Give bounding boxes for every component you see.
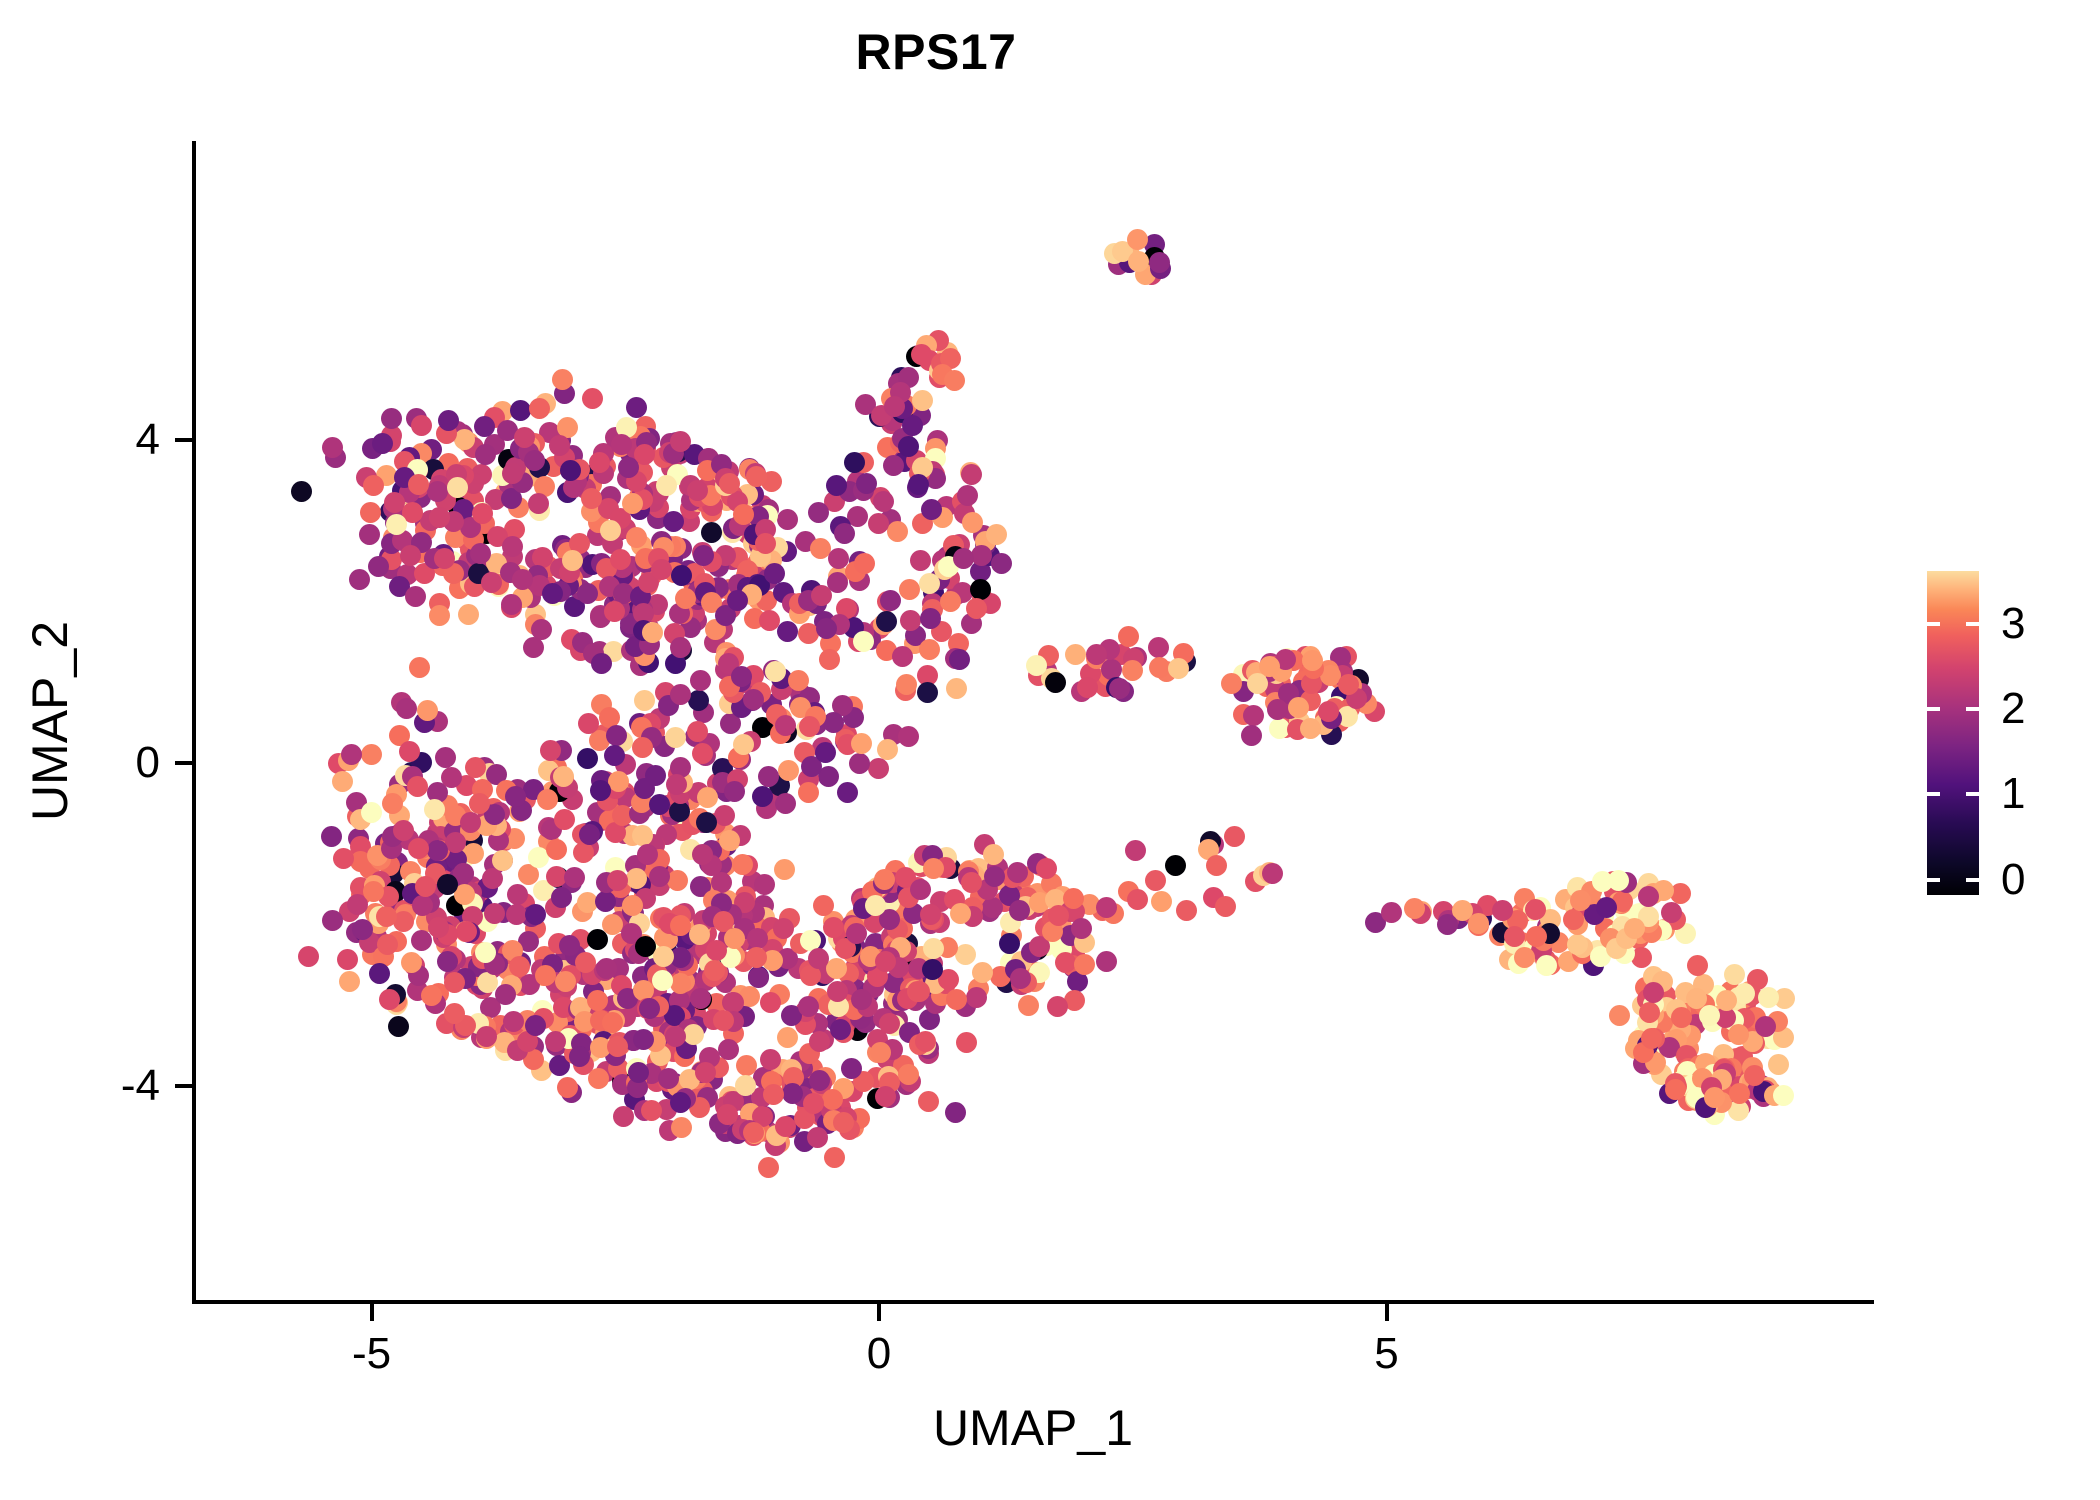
scatter-point	[435, 747, 456, 768]
scatter-point	[868, 513, 889, 534]
scatter-point	[1514, 947, 1535, 968]
scatter-point	[458, 604, 479, 625]
scatter-point	[743, 689, 764, 710]
scatter-point	[746, 947, 767, 968]
scatter-point	[875, 1086, 896, 1107]
scatter-point	[429, 605, 450, 626]
scatter-point	[1243, 705, 1264, 726]
legend-tick-mark	[1927, 622, 1940, 626]
scatter-point	[1567, 934, 1588, 955]
scatter-point	[1241, 725, 1262, 746]
scatter-point	[411, 415, 432, 436]
scatter-point	[706, 940, 727, 961]
scatter-point	[608, 771, 629, 792]
scatter-point	[501, 594, 522, 615]
scatter-point	[579, 824, 600, 845]
scatter-point	[1699, 1005, 1720, 1026]
scatter-point	[610, 549, 631, 570]
scatter-point	[1404, 898, 1425, 919]
scatter-point	[653, 946, 674, 967]
scatter-point	[441, 767, 462, 788]
scatter-point	[760, 1049, 781, 1070]
scatter-point	[809, 1070, 830, 1091]
scatter-point	[1010, 968, 1031, 989]
scatter-point	[811, 585, 832, 606]
scatter-point	[1168, 658, 1189, 679]
scatter-point	[1122, 660, 1143, 681]
scatter-point	[1687, 955, 1708, 976]
scatter-point	[578, 713, 599, 734]
scatter-point	[696, 812, 717, 833]
scatter-point	[604, 601, 625, 622]
scatter-point	[424, 799, 445, 820]
scatter-point	[560, 460, 581, 481]
scatter-point	[291, 481, 312, 502]
scatter-point	[912, 390, 933, 411]
scatter-point	[1118, 626, 1139, 647]
scatter-point	[754, 874, 775, 895]
scatter-point	[747, 928, 768, 949]
scatter-point	[663, 511, 684, 532]
scatter-point	[1065, 644, 1086, 665]
scatter-point	[337, 949, 358, 970]
scatter-point	[577, 583, 598, 604]
scatter-point	[349, 569, 370, 590]
scatter-point	[445, 832, 466, 853]
scatter-point	[670, 1092, 691, 1113]
scatter-point	[920, 608, 941, 629]
scatter-point	[1641, 1028, 1662, 1049]
scatter-point	[940, 591, 961, 612]
scatter-point	[819, 649, 840, 670]
scatter-point	[823, 917, 844, 938]
scatter-point	[961, 872, 982, 893]
scatter-point	[946, 678, 967, 699]
scatter-point	[670, 637, 691, 658]
scatter-point	[604, 745, 625, 766]
scatter-point	[808, 502, 829, 523]
scatter-point	[361, 802, 382, 823]
scatter-point	[701, 522, 722, 543]
legend-tick-label: 3	[2001, 596, 2025, 652]
scatter-point	[732, 854, 753, 875]
scatter-point	[555, 971, 576, 992]
scatter-point	[564, 867, 585, 888]
scatter-point	[870, 1042, 891, 1063]
scatter-point	[984, 866, 1005, 887]
scatter-point	[1504, 926, 1525, 947]
scatter-point	[735, 1075, 756, 1096]
scatter-point	[1734, 983, 1755, 1004]
scatter-point	[589, 452, 610, 473]
scatter-point	[484, 903, 505, 924]
scatter-point	[1758, 987, 1779, 1008]
y-tick-mark	[175, 761, 192, 765]
legend-tick-label: 0	[2001, 852, 2025, 908]
scatter-point	[1639, 1002, 1660, 1023]
scatter-point	[438, 410, 459, 431]
scatter-point	[437, 874, 458, 895]
scatter-point	[690, 988, 711, 1009]
scatter-point	[915, 1031, 936, 1052]
scatter-point	[718, 1039, 739, 1060]
scatter-point	[775, 793, 796, 814]
scatter-point	[1728, 1024, 1749, 1045]
scatter-point	[492, 850, 513, 871]
scatter-point	[917, 682, 938, 703]
scatter-point	[697, 787, 718, 808]
scatter-point	[675, 588, 696, 609]
legend-tick-mark	[1927, 792, 1940, 796]
scatter-point	[1570, 890, 1591, 911]
legend-tick-mark	[1927, 878, 1940, 882]
scatter-point	[665, 727, 686, 748]
scatter-point	[376, 906, 397, 927]
scatter-point	[1145, 870, 1166, 891]
scatter-point	[669, 801, 690, 822]
scatter-point	[554, 809, 575, 830]
scatter-point	[923, 858, 944, 879]
scatter-point	[587, 929, 608, 950]
scatter-point	[887, 521, 908, 542]
scatter-point	[1096, 951, 1117, 972]
scatter-point	[553, 766, 574, 787]
scatter-point	[524, 450, 545, 471]
scatter-point	[883, 455, 904, 476]
scatter-point	[833, 1112, 854, 1133]
scatter-point	[851, 733, 872, 754]
scatter-point	[1128, 251, 1149, 272]
scatter-point	[874, 869, 895, 890]
scatter-point	[502, 536, 523, 557]
scatter-point	[1215, 896, 1236, 917]
x-axis-line	[192, 1300, 1874, 1304]
scatter-point	[540, 740, 561, 761]
scatter-point	[763, 1084, 784, 1105]
legend-tick-label: 2	[2001, 681, 2025, 737]
scatter-point	[788, 670, 809, 691]
scatter-point	[966, 987, 987, 1008]
scatter-point	[1071, 918, 1092, 939]
scatter-point	[577, 748, 598, 769]
scatter-point	[341, 744, 362, 765]
y-axis-title-wrapper: UMAP_2	[20, 321, 80, 1121]
scatter-point	[775, 1116, 796, 1137]
scatter-point	[755, 533, 776, 554]
scatter-point	[667, 870, 688, 891]
scatter-point	[399, 741, 420, 762]
scatter-point	[1724, 964, 1745, 985]
scatter-point	[665, 1026, 686, 1047]
scatter-point	[528, 493, 549, 514]
y-axis-title: UMAP_2	[20, 321, 80, 1121]
scatter-point	[405, 586, 426, 607]
scatter-point	[777, 509, 798, 530]
scatter-point	[1109, 678, 1130, 699]
scatter-point	[876, 611, 897, 632]
scatter-point	[409, 657, 430, 678]
scatter-point	[361, 744, 382, 765]
scatter-point	[690, 670, 711, 691]
scatter-point	[944, 370, 965, 391]
scatter-point	[899, 579, 920, 600]
scatter-point	[999, 933, 1020, 954]
scatter-point	[774, 859, 795, 880]
scatter-point	[415, 876, 436, 897]
scatter-point	[562, 550, 583, 571]
scatter-point	[529, 398, 550, 419]
scatter-point	[575, 952, 596, 973]
scatter-point	[613, 1106, 634, 1127]
scatter-point	[683, 1024, 704, 1045]
scatter-point	[884, 396, 905, 417]
scatter-point	[649, 794, 670, 815]
scatter-point	[777, 1027, 798, 1048]
scatter-point	[1055, 952, 1076, 973]
scatter-point	[1127, 889, 1148, 910]
scatter-point	[773, 918, 794, 939]
x-tick-mark	[370, 1304, 374, 1321]
scatter-point	[849, 753, 870, 774]
scatter-point	[918, 1091, 939, 1112]
scatter-point	[1381, 902, 1402, 923]
scatter-point	[645, 765, 666, 786]
scatter-point	[807, 1127, 828, 1148]
scatter-point	[652, 970, 673, 991]
scatter-point	[396, 698, 417, 719]
scatter-point	[1018, 995, 1039, 1016]
legend-tick-mark	[1927, 707, 1940, 711]
scatter-point	[1671, 1007, 1692, 1028]
x-tick-label: 5	[1287, 1326, 1487, 1382]
scatter-point	[298, 946, 319, 967]
scatter-point	[830, 1019, 851, 1040]
scatter-point	[1047, 996, 1068, 1017]
scatter-point	[919, 573, 940, 594]
scatter-point	[626, 868, 647, 889]
scatter-point	[505, 786, 526, 807]
scatter-point	[898, 726, 919, 747]
scatter-point	[475, 444, 496, 465]
scatter-point	[687, 721, 708, 742]
scatter-point	[658, 1068, 679, 1089]
scatter-point	[868, 758, 889, 779]
scatter-point	[731, 666, 752, 687]
scatter-point	[724, 781, 745, 802]
scatter-point	[760, 992, 781, 1013]
scatter-point	[1096, 897, 1117, 918]
scatter-point	[1338, 674, 1359, 695]
scatter-layer	[194, 141, 1872, 1302]
scatter-point	[687, 480, 708, 501]
scatter-point	[692, 743, 713, 764]
scatter-point	[834, 523, 855, 544]
scatter-point	[465, 757, 486, 778]
scatter-point	[704, 960, 725, 981]
scatter-point	[595, 891, 616, 912]
scatter-point	[956, 1032, 977, 1053]
scatter-point	[537, 789, 558, 810]
y-axis-line	[192, 141, 196, 1304]
scatter-point	[412, 895, 433, 916]
legend-tick-mark	[1966, 707, 1979, 711]
scatter-point	[1744, 1065, 1765, 1086]
scatter-point	[1536, 955, 1557, 976]
scatter-point	[322, 910, 343, 931]
color-legend[interactable]	[1927, 571, 1979, 895]
scatter-point	[971, 545, 992, 566]
scatter-point	[854, 553, 875, 574]
scatter-point	[642, 622, 663, 643]
scatter-point	[896, 674, 917, 695]
x-tick-label: -5	[272, 1326, 472, 1382]
scatter-point	[1077, 677, 1098, 698]
scatter-point	[1686, 988, 1707, 1009]
scatter-point	[949, 649, 970, 670]
scatter-point	[510, 400, 531, 421]
scatter-point	[444, 972, 465, 993]
scatter-point	[360, 502, 381, 523]
legend-tick-label: 1	[2001, 766, 2025, 822]
scatter-point	[377, 934, 398, 955]
x-axis-title: UMAP_1	[194, 1398, 1872, 1458]
scatter-point	[582, 388, 603, 409]
page-title: RPS17	[0, 22, 1872, 82]
scatter-point	[898, 1064, 919, 1085]
scatter-point	[379, 989, 400, 1010]
scatter-point	[946, 989, 967, 1010]
scatter-point	[633, 1029, 654, 1050]
scatter-point	[1624, 918, 1645, 939]
scatter-point	[602, 1012, 623, 1033]
scatter-point	[898, 436, 919, 457]
legend-tick-mark	[1966, 878, 1979, 882]
scatter-point	[945, 1102, 966, 1123]
scatter-point	[1437, 914, 1458, 935]
scatter-point	[765, 661, 786, 682]
scatter-point	[552, 369, 573, 390]
scatter-point	[824, 1147, 845, 1168]
scatter-point	[1302, 650, 1323, 671]
scatter-point	[428, 917, 449, 938]
scatter-point	[921, 499, 942, 520]
scatter-point	[444, 1003, 465, 1024]
scatter-point	[400, 545, 421, 566]
scatter-point	[844, 452, 865, 473]
scatter-point	[408, 474, 429, 495]
scatter-point	[1148, 637, 1169, 658]
scatter-point	[733, 504, 754, 525]
scatter-point	[1026, 655, 1047, 676]
scatter-point	[957, 485, 978, 506]
scatter-point	[815, 742, 836, 763]
scatter-point	[1176, 900, 1197, 921]
legend-tick-mark	[1966, 622, 1979, 626]
scatter-point	[626, 527, 647, 548]
x-tick-mark	[877, 1304, 881, 1321]
scatter-point	[909, 981, 930, 1002]
legend-tick-mark	[1966, 792, 1979, 796]
scatter-point	[1704, 1087, 1725, 1108]
scatter-point	[873, 491, 894, 512]
scatter-point	[339, 971, 360, 992]
scatter-point	[1224, 826, 1245, 847]
scatter-point	[1048, 905, 1069, 926]
scatter-point	[369, 963, 390, 984]
scatter-point	[475, 942, 496, 963]
scatter-point	[953, 548, 974, 569]
scatter-point	[733, 734, 754, 755]
scatter-point	[332, 771, 353, 792]
scatter-point	[359, 524, 380, 545]
scatter-point	[417, 700, 438, 721]
scatter-point	[1165, 855, 1186, 876]
scatter-point	[607, 1036, 628, 1057]
scatter-point	[607, 870, 628, 891]
scatter-point	[671, 1117, 692, 1138]
scatter-point	[634, 690, 655, 711]
scatter-point	[778, 760, 799, 781]
scatter-point	[503, 1011, 524, 1032]
scatter-point	[632, 825, 653, 846]
scatter-point	[1729, 1083, 1750, 1104]
scatter-point	[950, 903, 971, 924]
scatter-point	[382, 793, 403, 814]
scatter-point	[363, 475, 384, 496]
scatter-point	[523, 637, 544, 658]
feature-plot-root: RPS17 -505 -404 UMAP_1 UMAP_2 0123	[0, 0, 2100, 1500]
scatter-point	[1661, 902, 1682, 923]
scatter-point	[970, 579, 991, 600]
x-tick-label: 0	[779, 1326, 979, 1382]
scatter-point	[910, 550, 931, 571]
scatter-point	[1009, 900, 1030, 921]
scatter-point	[591, 653, 612, 674]
color-legend-gradient-bar	[1927, 571, 1979, 895]
scatter-point	[919, 639, 940, 660]
scatter-point	[758, 1157, 779, 1178]
scatter-point	[656, 475, 677, 496]
scatter-point	[798, 782, 819, 803]
scatter-point	[809, 1031, 830, 1052]
y-tick-mark	[175, 438, 192, 442]
scatter-point	[808, 948, 829, 969]
scatter-point	[388, 1016, 409, 1037]
scatter-point	[502, 463, 523, 484]
scatter-point	[495, 984, 516, 1005]
y-tick-mark	[175, 1084, 192, 1088]
scatter-point	[1288, 697, 1309, 718]
scatter-point	[407, 776, 428, 797]
scatter-point	[1262, 863, 1283, 884]
scatter-point	[606, 725, 627, 746]
scatter-point	[1045, 672, 1066, 693]
scatter-point	[1525, 899, 1546, 920]
scatter-point	[1638, 886, 1659, 907]
scatter-point	[381, 408, 402, 429]
scatter-point	[434, 548, 455, 569]
scatter-point	[590, 780, 611, 801]
scatter-point	[641, 1100, 662, 1121]
scatter-point	[1125, 840, 1146, 861]
scatter-point	[923, 938, 944, 959]
scatter-point	[1755, 1016, 1776, 1037]
scatter-point	[427, 481, 448, 502]
scatter-point	[991, 553, 1012, 574]
scatter-point	[559, 935, 580, 956]
scatter-point	[525, 1015, 546, 1036]
scatter-point	[689, 924, 710, 945]
